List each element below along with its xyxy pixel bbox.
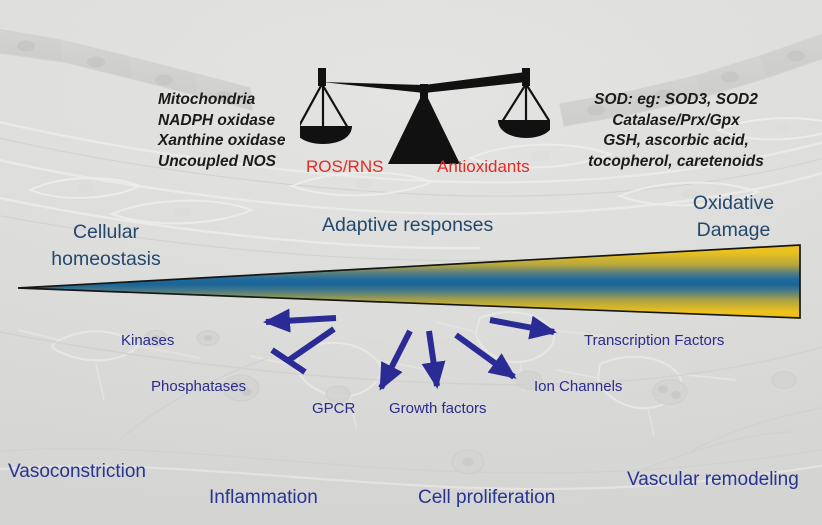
ros-source-item: Mitochondria	[158, 90, 398, 111]
arrow-to-transcription-factors	[490, 320, 554, 332]
ros-source-item: Xanthine oxidase	[158, 131, 398, 152]
label-transcription-factors: Transcription Factors	[584, 332, 724, 349]
antioxidants-label: Antioxidants	[437, 157, 530, 177]
arrow-to-growth-factors	[429, 331, 437, 386]
label-phosphatases: Phosphatases	[151, 378, 246, 395]
arrow-to-phosphatases	[272, 329, 334, 372]
arrow-to-kinases	[266, 318, 336, 322]
antioxidants-list: SOD: eg: SOD3, SOD2 Catalase/Prx/Gpx GSH…	[548, 90, 804, 172]
label-vascular-remodeling: Vascular remodeling	[627, 469, 799, 491]
label-ion-channels: Ion Channels	[534, 378, 622, 395]
figure-canvas: Mitochondria NADPH oxidase Xanthine oxid…	[0, 0, 822, 525]
ros-source-item: NADPH oxidase	[158, 111, 398, 132]
label-kinases: Kinases	[121, 332, 174, 349]
ros-rns-label: ROS/RNS	[306, 157, 383, 177]
label-gpcr: GPCR	[312, 400, 355, 417]
label-vasoconstriction: Vasoconstriction	[8, 461, 146, 483]
label-cell-proliferation: Cell proliferation	[418, 487, 555, 509]
antioxidant-item: SOD: eg: SOD3, SOD2	[548, 90, 804, 111]
arrow-to-ion-channels	[456, 335, 514, 377]
arrow-to-gpcr	[381, 331, 410, 388]
antioxidant-item: Catalase/Prx/Gpx	[548, 111, 804, 132]
antioxidant-item: tocopherol, caretenoids	[548, 152, 804, 173]
label-growth-factors: Growth factors	[389, 400, 487, 417]
antioxidant-item: GSH, ascorbic acid,	[548, 131, 804, 152]
oxidative-damage-line1: Oxidative	[693, 192, 774, 214]
downstream-signalling-arrows	[0, 300, 822, 410]
label-inflammation: Inflammation	[209, 487, 318, 509]
